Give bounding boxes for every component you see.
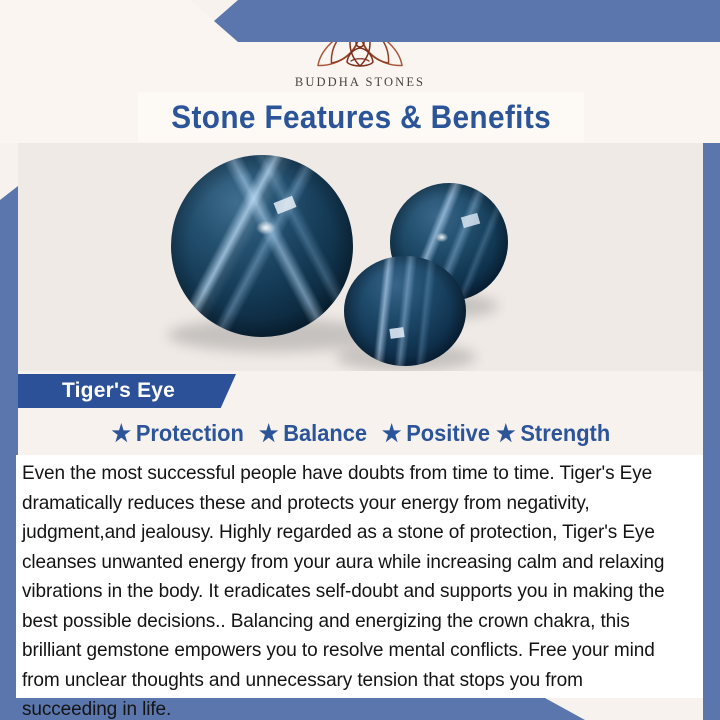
benefit-label: Balance — [283, 420, 367, 447]
benefits-row: ★ Protection ★ Balance ★ Positive ★ Stre… — [18, 414, 703, 452]
gemstone-sphere-large — [171, 155, 353, 337]
decor-top-right-bar — [190, 0, 720, 42]
benefit-label: Strength — [520, 420, 610, 447]
description-panel: Even the most successful people have dou… — [16, 455, 703, 698]
benefit-item-protection: ★ Protection — [111, 420, 243, 447]
star-icon: ★ — [382, 422, 402, 445]
stone-name-banner: Tiger's Eye — [18, 374, 236, 408]
description-text: Even the most successful people have dou… — [22, 459, 680, 720]
brand-name: BUDDHA STONES — [295, 75, 425, 90]
benefit-label: Positive — [406, 420, 490, 447]
gemstone-sphere-small — [344, 256, 466, 366]
benefit-item-balance: ★ Balance — [259, 420, 367, 447]
title-band: Stone Features & Benefits — [138, 92, 584, 142]
benefit-item-positive: ★ Positive — [382, 420, 490, 447]
rim-darkening — [171, 155, 353, 337]
benefit-label: Protection — [136, 420, 244, 447]
rim-darkening — [344, 256, 466, 366]
page-title: Stone Features & Benefits — [171, 99, 551, 136]
stone-name: Tiger's Eye — [62, 379, 175, 403]
star-icon: ★ — [496, 422, 516, 445]
stone-photo — [18, 143, 703, 371]
benefit-item-strength: ★ Strength — [496, 420, 610, 447]
stone-info-card: BUDDHA STONES Stone Features & Benefits — [0, 0, 720, 720]
star-icon: ★ — [259, 422, 279, 445]
star-icon: ★ — [111, 422, 131, 445]
